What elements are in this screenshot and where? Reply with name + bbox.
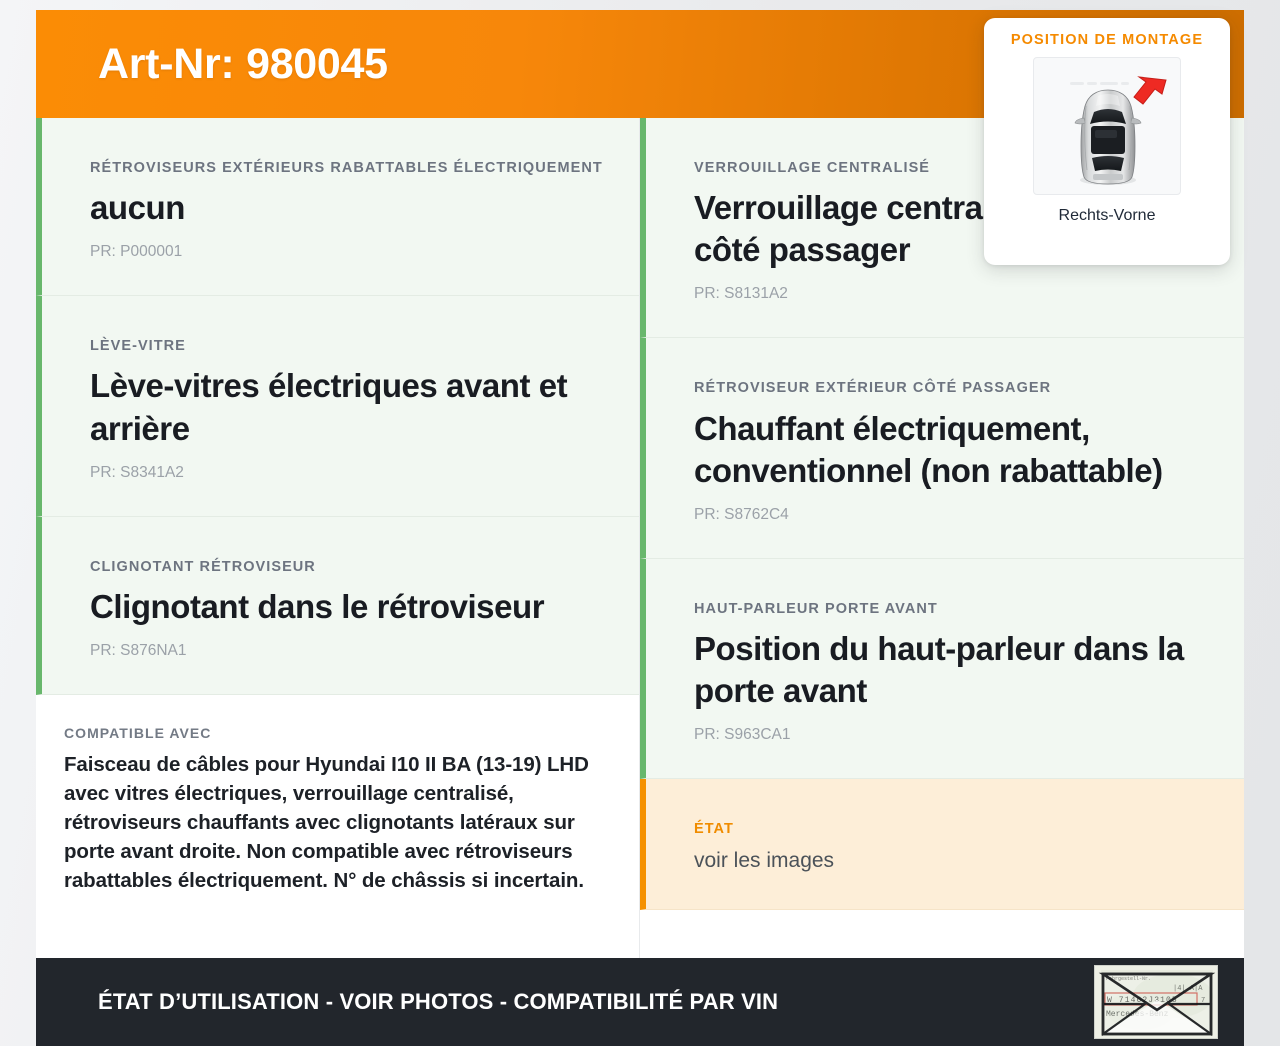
compatibility-label: COMPATIBLE AVEC bbox=[64, 725, 609, 741]
spec-card-label: RÉTROVISEURS EXTÉRIEURS RABATTABLES ÉLEC… bbox=[90, 158, 605, 179]
mounting-position-title: POSITION DE MONTAGE bbox=[996, 32, 1218, 48]
product-spec-page: Art-Nr: 980045 RÉTROVISEURS EXTÉRIEURS R… bbox=[0, 0, 1280, 1046]
spec-card-label: RÉTROVISEUR EXTÉRIEUR CÔTÉ PASSAGER bbox=[694, 378, 1210, 399]
spec-card-code: PR: S8341A2 bbox=[90, 464, 605, 482]
spec-card-label: HAUT-PARLEUR PORTE AVANT bbox=[694, 599, 1210, 620]
spec-card-code: PR: S963CA1 bbox=[694, 726, 1210, 744]
column-filler bbox=[640, 910, 1244, 958]
state-card-label: ÉTAT bbox=[694, 819, 1210, 840]
page-title: Art-Nr: 980045 bbox=[36, 40, 388, 89]
compatibility-section: COMPATIBLE AVEC Faisceau de câbles pour … bbox=[36, 695, 639, 958]
compatibility-text: Faisceau de câbles pour Hyundai I10 II B… bbox=[64, 750, 609, 896]
spec-card-value: Clignotant dans le rétroviseur bbox=[90, 586, 605, 628]
spec-card-code: PR: S876NA1 bbox=[90, 642, 605, 660]
spec-card: CLIGNOTANT RÉTROVISEUR Clignotant dans l… bbox=[36, 517, 639, 695]
car-top-view-svg bbox=[1034, 58, 1181, 195]
state-card: ÉTAT voir les images bbox=[640, 779, 1244, 910]
mounting-position-caption: Rechts-Vorne bbox=[996, 207, 1218, 225]
envelope-over-vehicle-registration-icon: Fahrgestell-Nr. W 71462J3105 Mercedes-Be… bbox=[1094, 965, 1218, 1039]
spec-card: RÉTROVISEURS EXTÉRIEURS RABATTABLES ÉLEC… bbox=[36, 118, 639, 296]
spec-card: LÈVE-VITRE Lève-vitres électriques avant… bbox=[36, 296, 639, 516]
registration-document-thumb-svg: Fahrgestell-Nr. W 71462J3105 Mercedes-Be… bbox=[1095, 966, 1218, 1039]
spec-card-code: PR: S8131A2 bbox=[694, 285, 1210, 303]
spec-card-code: PR: S8762C4 bbox=[694, 506, 1210, 524]
car-top-view-with-arrow-icon bbox=[1033, 57, 1181, 195]
spec-card-label: CLIGNOTANT RÉTROVISEUR bbox=[90, 557, 605, 578]
spec-column-left: RÉTROVISEURS EXTÉRIEURS RABATTABLES ÉLEC… bbox=[36, 118, 640, 958]
page-footer: ÉTAT D’UTILISATION - VOIR PHOTOS - COMPA… bbox=[36, 958, 1244, 1046]
spec-card-label: LÈVE-VITRE bbox=[90, 336, 605, 357]
spec-card-value: Chauffant électriquement, conventionnel … bbox=[694, 408, 1210, 492]
footer-text: ÉTAT D’UTILISATION - VOIR PHOTOS - COMPA… bbox=[98, 989, 778, 1015]
spec-card: HAUT-PARLEUR PORTE AVANT Position du hau… bbox=[640, 559, 1244, 779]
spec-card-value: Position du haut-parleur dans la porte a… bbox=[694, 628, 1210, 712]
spec-card-value: aucun bbox=[90, 187, 605, 229]
spec-card-value: Lève-vitres électriques avant et arrière bbox=[90, 365, 605, 449]
red-arrow-icon bbox=[1134, 77, 1166, 104]
state-card-value: voir les images bbox=[694, 848, 1210, 875]
spec-card: RÉTROVISEUR EXTÉRIEUR CÔTÉ PASSAGER Chau… bbox=[640, 338, 1244, 558]
mounting-position-card[interactable]: POSITION DE MONTAGE bbox=[984, 18, 1230, 265]
spec-card-code: PR: P000001 bbox=[90, 243, 605, 261]
